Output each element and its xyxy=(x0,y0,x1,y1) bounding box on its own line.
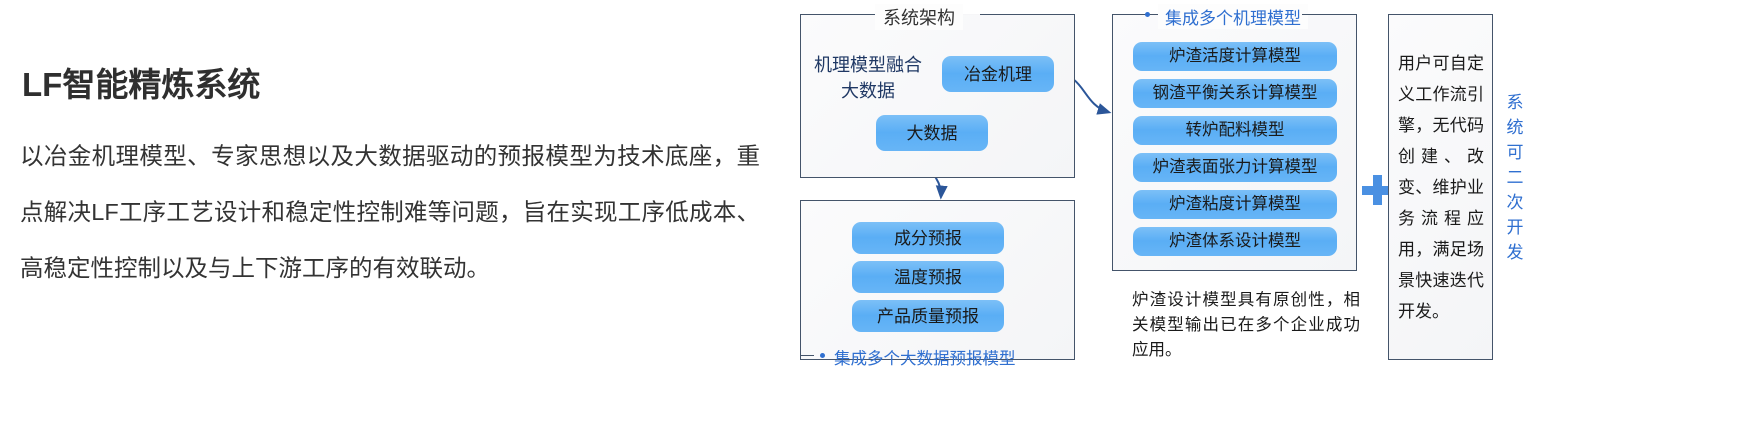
system-architecture-diagram: 系统架构 机理模型融合大数据 冶金机理 大数据 成分预报 温度预报 产品质量预报… xyxy=(790,0,1760,430)
models-label-bullet-icon xyxy=(1145,12,1150,17)
pill-product-quality-forecast[interactable]: 产品质量预报 xyxy=(852,300,1004,332)
left-text-column: LF智能精炼系统 以冶金机理模型、专家思想以及大数据驱动的预报模型为技术底座，重… xyxy=(0,0,790,430)
pill-slag-surface-tension-model[interactable]: 炉渣表面张力计算模型 xyxy=(1133,153,1337,182)
architecture-caption: 机理模型融合大数据 xyxy=(808,52,928,104)
workflow-description: 用户可自定义工作流引擎，无代码创建、改变、维护业务流程应用，满足场景快速迭代开发… xyxy=(1398,48,1484,327)
prediction-panel-label: 集成多个大数据预报模型 xyxy=(834,345,1016,369)
models-label-dash-left xyxy=(1112,14,1137,15)
models-label-dash-right xyxy=(1302,14,1357,15)
pill-big-data[interactable]: 大数据 xyxy=(876,115,988,151)
pill-composition-forecast[interactable]: 成分预报 xyxy=(852,222,1004,254)
pill-slag-system-design-model[interactable]: 炉渣体系设计模型 xyxy=(1133,227,1337,256)
models-caption: 炉渣设计模型具有原创性，相关模型输出已在多个企业成功应用。 xyxy=(1132,288,1360,363)
architecture-panel-title: 系统架构 xyxy=(875,4,963,30)
pill-metallurgical-mechanism[interactable]: 冶金机理 xyxy=(942,56,1054,92)
models-panel-title: 集成多个机理模型 xyxy=(1158,4,1308,29)
secondary-development-label: 系统可二次开发 xyxy=(1502,90,1528,265)
pill-steel-slag-balance-model[interactable]: 钢渣平衡关系计算模型 xyxy=(1133,79,1337,108)
prediction-label-dash xyxy=(800,355,814,356)
page-title: LF智能精炼系统 xyxy=(22,58,260,106)
architecture-border-right-segment xyxy=(980,14,1075,15)
pill-temperature-forecast[interactable]: 温度预报 xyxy=(852,261,1004,293)
pill-slag-activity-model[interactable]: 炉渣活度计算模型 xyxy=(1133,42,1337,71)
description-paragraph: 以冶金机理模型、专家思想以及大数据驱动的预报模型为技术底座，重点解决LF工序工艺… xyxy=(20,128,760,296)
pill-converter-charging-model[interactable]: 转炉配料模型 xyxy=(1133,116,1337,145)
pill-slag-viscosity-model[interactable]: 炉渣粘度计算模型 xyxy=(1133,190,1337,219)
architecture-border-left-segment xyxy=(800,14,880,15)
prediction-label-bullet-icon xyxy=(820,353,825,358)
